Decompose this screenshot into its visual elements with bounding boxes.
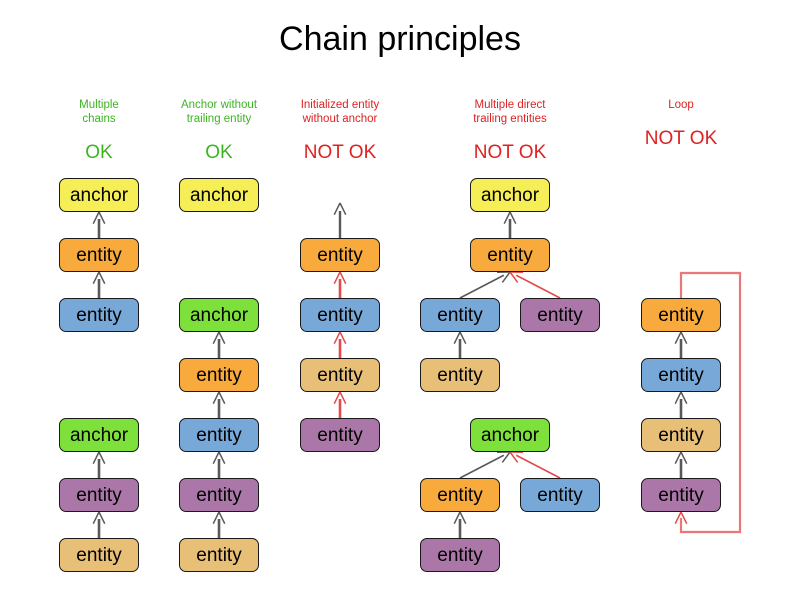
edge-normal — [460, 452, 510, 478]
edge-normal — [93, 212, 105, 238]
column-verdict-multiple-direct-trailing-entities: NOT OK — [420, 142, 600, 164]
column-verdict-initialized-entity-without-anchor: NOT OK — [250, 142, 430, 164]
edge-normal — [675, 332, 687, 358]
node-anchor[interactable]: anchor — [59, 178, 139, 212]
column-caption-multiple-direct-trailing-entities: Multiple direct trailing entities — [420, 98, 600, 126]
edge-bad — [334, 332, 346, 358]
edge-normal — [675, 392, 687, 418]
node-entity[interactable]: entity — [420, 358, 500, 392]
node-entity[interactable]: entity — [179, 418, 259, 452]
page-title: Chain principles — [0, 20, 800, 59]
node-entity[interactable]: entity — [59, 238, 139, 272]
column-caption-initialized-entity-without-anchor: Initialized entity without anchor — [250, 98, 430, 126]
node-entity[interactable]: entity — [179, 478, 259, 512]
node-entity[interactable]: entity — [520, 298, 600, 332]
node-entity[interactable]: entity — [641, 418, 721, 452]
node-entity[interactable]: entity — [420, 478, 500, 512]
node-entity[interactable]: entity — [179, 538, 259, 572]
node-entity[interactable]: entity — [520, 478, 600, 512]
edge-normal — [334, 203, 346, 238]
edge-normal — [213, 512, 225, 538]
node-anchor[interactable]: anchor — [470, 418, 550, 452]
edge-normal — [504, 212, 516, 238]
edge-normal — [454, 512, 466, 538]
node-entity[interactable]: entity — [470, 238, 550, 272]
edge-normal — [213, 392, 225, 418]
edge-normal — [93, 272, 105, 298]
node-entity[interactable]: entity — [59, 538, 139, 572]
edge-bad — [510, 272, 560, 298]
edge-normal — [213, 332, 225, 358]
edge-normal — [454, 332, 466, 358]
node-anchor[interactable]: anchor — [59, 418, 139, 452]
node-entity[interactable]: entity — [59, 298, 139, 332]
column-header-multiple-direct-trailing-entities: Multiple direct trailing entitiesNOT OK — [420, 98, 600, 164]
node-entity[interactable]: entity — [420, 538, 500, 572]
edge-normal — [93, 452, 105, 478]
node-entity[interactable]: entity — [300, 418, 380, 452]
node-entity[interactable]: entity — [641, 478, 721, 512]
node-entity[interactable]: entity — [300, 298, 380, 332]
node-entity[interactable]: entity — [641, 358, 721, 392]
node-anchor[interactable]: anchor — [470, 178, 550, 212]
node-entity[interactable]: entity — [641, 298, 721, 332]
node-entity[interactable]: entity — [179, 358, 259, 392]
edge-bad — [334, 392, 346, 418]
diagram-canvas: Chain principles Multiple chainsOKAnchor… — [0, 0, 800, 600]
column-header-initialized-entity-without-anchor: Initialized entity without anchorNOT OK — [250, 98, 430, 164]
column-header-loop: LoopNOT OK — [591, 98, 771, 150]
column-caption-loop: Loop — [591, 98, 771, 112]
node-entity[interactable]: entity — [420, 298, 500, 332]
edge-bad — [510, 452, 560, 478]
edge-bad — [334, 272, 346, 298]
column-verdict-loop: NOT OK — [591, 128, 771, 150]
node-entity[interactable]: entity — [59, 478, 139, 512]
edge-normal — [213, 452, 225, 478]
node-anchor[interactable]: anchor — [179, 298, 259, 332]
node-entity[interactable]: entity — [300, 238, 380, 272]
edge-normal — [460, 272, 510, 298]
edge-normal — [675, 452, 687, 478]
node-anchor[interactable]: anchor — [179, 178, 259, 212]
node-entity[interactable]: entity — [300, 358, 380, 392]
edge-normal — [93, 512, 105, 538]
